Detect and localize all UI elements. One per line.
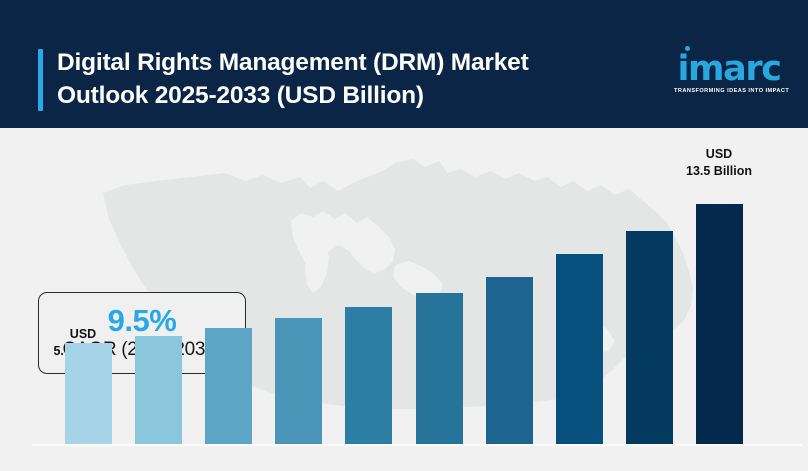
bar-2026 <box>205 328 252 444</box>
title-accent-bar <box>38 49 43 111</box>
bar-2032 <box>626 231 673 444</box>
page-title: Digital Rights Management (DRM) Market O… <box>57 46 597 112</box>
bar-2028 <box>345 307 392 444</box>
title-line-1: Digital Rights Management (DRM) Market <box>57 46 597 79</box>
bar-2024 <box>65 343 112 444</box>
logo-wordmark: imarc <box>674 52 784 86</box>
bar-2033 <box>696 204 743 444</box>
bottom-strip <box>0 446 808 471</box>
last-value-callout: USD 13.5 Billion <box>664 146 774 180</box>
infographic-canvas: Digital Rights Management (DRM) Market O… <box>0 0 808 471</box>
usa-map-background <box>95 133 715 433</box>
bar-2031 <box>556 254 603 444</box>
first-value-unit: USD <box>28 326 138 343</box>
logo-wordmark-text: imarc <box>677 49 780 89</box>
last-value-unit: USD <box>664 146 774 163</box>
bar-2030 <box>486 277 533 444</box>
bar-2025 <box>135 336 182 444</box>
bar-2027 <box>275 318 322 444</box>
header-banner: Digital Rights Management (DRM) Market O… <box>0 0 808 128</box>
last-value-amount: 13.5 Billion <box>664 163 774 180</box>
imarc-logo: imarc TRANSFORMING IDEAS INTO IMPACT <box>674 52 784 94</box>
bar-2029 <box>416 293 463 444</box>
title-line-2: Outlook 2025-2033 (USD Billion) <box>57 79 597 112</box>
logo-dot-icon <box>685 46 690 51</box>
